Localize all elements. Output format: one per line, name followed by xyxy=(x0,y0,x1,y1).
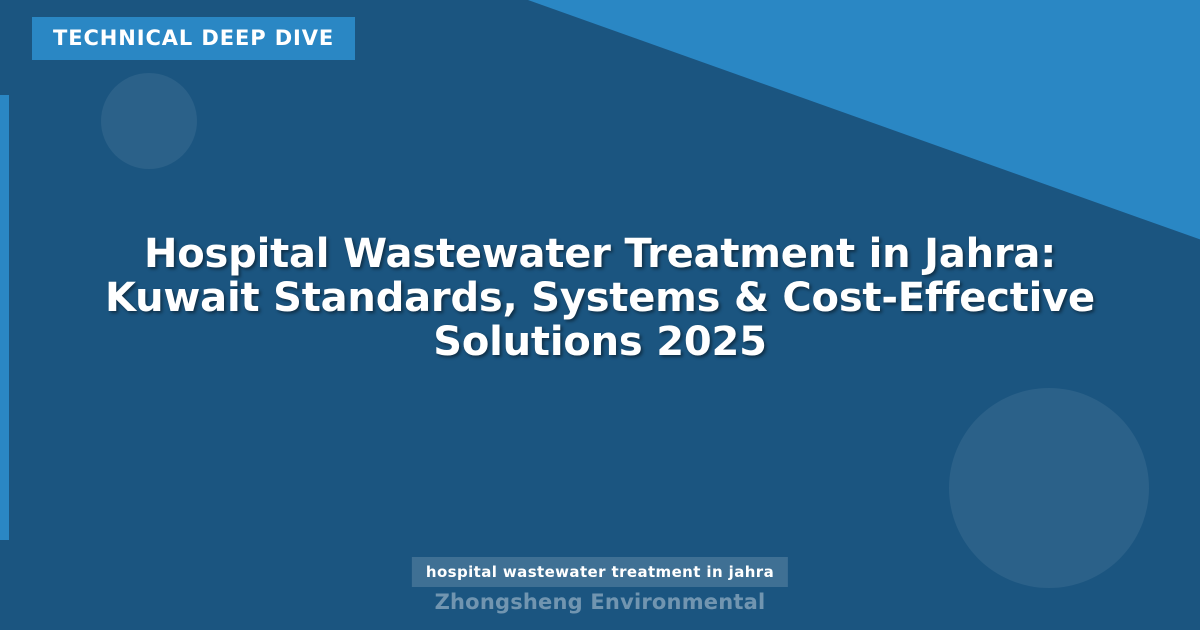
decorative-circle-bottom-right xyxy=(949,388,1149,588)
keyword-chip: hospital wastewater treatment in jahra xyxy=(412,557,788,587)
category-tag: TECHNICAL DEEP DIVE xyxy=(32,17,355,60)
page-title: Hospital Wastewater Treatment in Jahra: … xyxy=(60,232,1140,364)
banner-card: TECHNICAL DEEP DIVE Hospital Wastewater … xyxy=(0,0,1200,630)
brand-name: Zhongsheng Environmental xyxy=(0,590,1200,614)
decorative-circle-top-left xyxy=(101,73,197,169)
title-block: Hospital Wastewater Treatment in Jahra: … xyxy=(0,232,1200,364)
